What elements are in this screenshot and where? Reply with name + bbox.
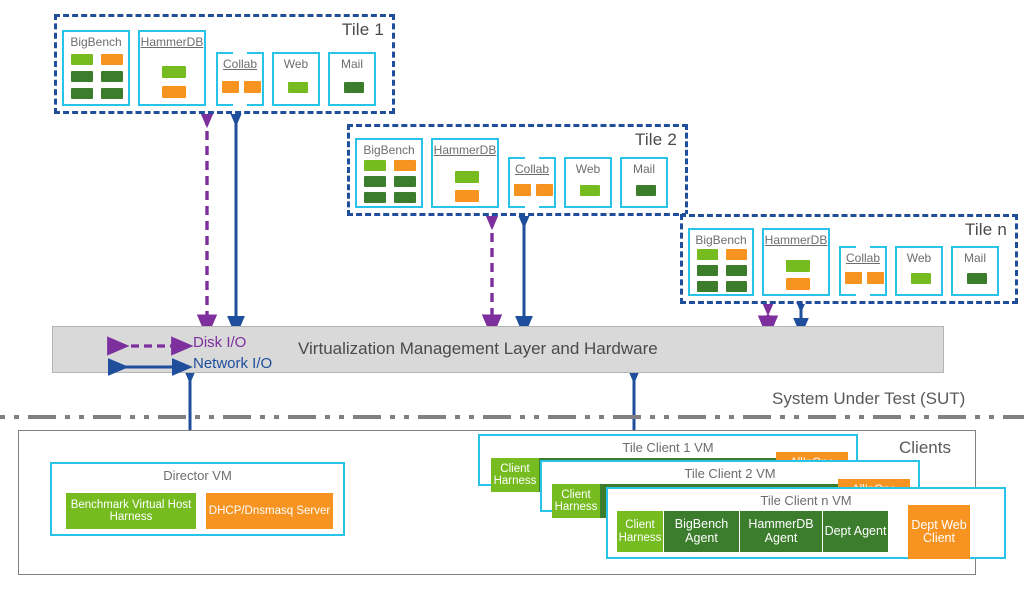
app-title: Collab bbox=[510, 162, 554, 176]
app-block bbox=[344, 82, 364, 93]
collab-notch-bottom bbox=[525, 205, 539, 211]
clients-label: Clients bbox=[899, 438, 951, 458]
app-title: HammerDB bbox=[140, 35, 204, 49]
tile-1-label: Tile 1 bbox=[342, 20, 384, 40]
chip-client-harness-2[interactable]: Client Harness bbox=[552, 484, 600, 518]
tile-2-app-mail[interactable]: Mail bbox=[620, 157, 668, 208]
app-block bbox=[726, 265, 747, 276]
app-title: Web bbox=[566, 162, 610, 176]
tile-n-app-collab[interactable]: Collab bbox=[839, 246, 887, 296]
chip-dept-agent[interactable]: Dept Agent bbox=[823, 511, 888, 552]
app-block bbox=[71, 54, 93, 65]
app-block bbox=[101, 71, 123, 82]
app-title: Collab bbox=[218, 57, 262, 71]
app-block bbox=[580, 185, 600, 196]
app-block bbox=[845, 272, 862, 284]
app-title: Mail bbox=[953, 251, 997, 265]
chip-dhcp-dnsmasq-server[interactable]: DHCP/Dnsmasq Server bbox=[206, 493, 333, 529]
tile-2-app-hammerdb[interactable]: HammerDB bbox=[431, 138, 499, 208]
collab-notch-top bbox=[856, 244, 870, 249]
tile-2-app-collab[interactable]: Collab bbox=[508, 157, 556, 208]
app-block bbox=[288, 82, 308, 93]
director-vm[interactable]: Director VM Benchmark Virtual Host Harne… bbox=[50, 462, 345, 536]
tile-1-app-hammerdb[interactable]: HammerDB bbox=[138, 30, 206, 106]
app-block bbox=[222, 81, 239, 93]
app-block bbox=[71, 71, 93, 82]
app-title: Collab bbox=[841, 251, 885, 265]
tile-2-app-bigbench[interactable]: BigBench bbox=[355, 138, 423, 208]
tile-2-label: Tile 2 bbox=[635, 130, 677, 150]
app-title: Mail bbox=[330, 57, 374, 71]
app-block bbox=[455, 190, 479, 202]
tile-n-app-web[interactable]: Web bbox=[895, 246, 943, 296]
app-block bbox=[455, 171, 479, 183]
collab-notch-bottom bbox=[233, 103, 247, 109]
tile-n-app-mail[interactable]: Mail bbox=[951, 246, 999, 296]
app-block bbox=[364, 160, 386, 171]
app-block bbox=[536, 184, 553, 196]
collab-notch-bottom bbox=[856, 293, 870, 299]
app-title: BigBench bbox=[357, 143, 421, 157]
app-block bbox=[514, 184, 531, 196]
app-block bbox=[364, 176, 386, 187]
collab-notch-top bbox=[233, 50, 247, 55]
tile-1-app-web[interactable]: Web bbox=[272, 52, 320, 106]
app-block bbox=[967, 273, 987, 284]
diagram-canvas: Tile 1 BigBench HammerDB Collab Web Mail… bbox=[0, 0, 1024, 589]
system-under-test-label: System Under Test (SUT) bbox=[772, 389, 965, 409]
legend-disk-io-arrow-icon bbox=[113, 339, 187, 353]
virtualization-layer-title: Virtualization Management Layer and Hard… bbox=[298, 339, 658, 359]
app-title: Mail bbox=[622, 162, 666, 176]
app-block bbox=[911, 273, 931, 284]
app-block bbox=[697, 265, 718, 276]
app-block bbox=[636, 185, 656, 196]
app-block bbox=[162, 66, 186, 78]
tile-2-app-web[interactable]: Web bbox=[564, 157, 612, 208]
tile-n-app-hammerdb[interactable]: HammerDB bbox=[762, 228, 830, 296]
chip-benchmark-virtual-host-harness[interactable]: Benchmark Virtual Host Harness bbox=[66, 493, 196, 529]
virtualization-management-layer[interactable]: Virtualization Management Layer and Hard… bbox=[52, 326, 944, 373]
tile-n-label: Tile n bbox=[965, 220, 1007, 240]
app-block bbox=[697, 249, 718, 260]
app-title: Web bbox=[897, 251, 941, 265]
app-block bbox=[786, 278, 810, 290]
app-block bbox=[726, 249, 747, 260]
chip-bigbench-agent[interactable]: BigBench Agent bbox=[664, 511, 739, 552]
tile-n-app-bigbench[interactable]: BigBench bbox=[688, 228, 754, 296]
collab-notch-top bbox=[525, 155, 539, 160]
app-block bbox=[726, 281, 747, 292]
app-block bbox=[71, 88, 93, 99]
tile-1-app-mail[interactable]: Mail bbox=[328, 52, 376, 106]
app-block bbox=[394, 192, 416, 203]
app-block bbox=[244, 81, 261, 93]
tile-1-app-collab[interactable]: Collab bbox=[216, 52, 264, 106]
legend-network-io-label: Network I/O bbox=[193, 355, 272, 372]
app-block bbox=[867, 272, 884, 284]
app-block bbox=[162, 86, 186, 98]
app-title: BigBench bbox=[690, 233, 752, 247]
chip-dept-web-client[interactable]: Dept Web Client bbox=[908, 505, 970, 559]
app-title: Web bbox=[274, 57, 318, 71]
app-block bbox=[786, 260, 810, 272]
director-vm-title: Director VM bbox=[52, 468, 343, 483]
app-block bbox=[101, 88, 123, 99]
chip-hammerdb-agent[interactable]: HammerDB Agent bbox=[740, 511, 822, 552]
app-block bbox=[697, 281, 718, 292]
app-block bbox=[101, 54, 123, 65]
tile-1-app-bigbench[interactable]: BigBench bbox=[62, 30, 130, 106]
chip-client-harness-n[interactable]: Client Harness bbox=[617, 511, 663, 552]
app-title: HammerDB bbox=[433, 143, 497, 157]
chip-client-harness-1[interactable]: Client Harness bbox=[491, 458, 539, 492]
app-block bbox=[394, 176, 416, 187]
app-block bbox=[394, 160, 416, 171]
app-title: BigBench bbox=[64, 35, 128, 49]
legend-disk-io-label: Disk I/O bbox=[193, 334, 246, 351]
app-title: HammerDB bbox=[764, 233, 828, 247]
app-block bbox=[364, 192, 386, 203]
legend-network-io-arrow-icon bbox=[113, 360, 187, 374]
